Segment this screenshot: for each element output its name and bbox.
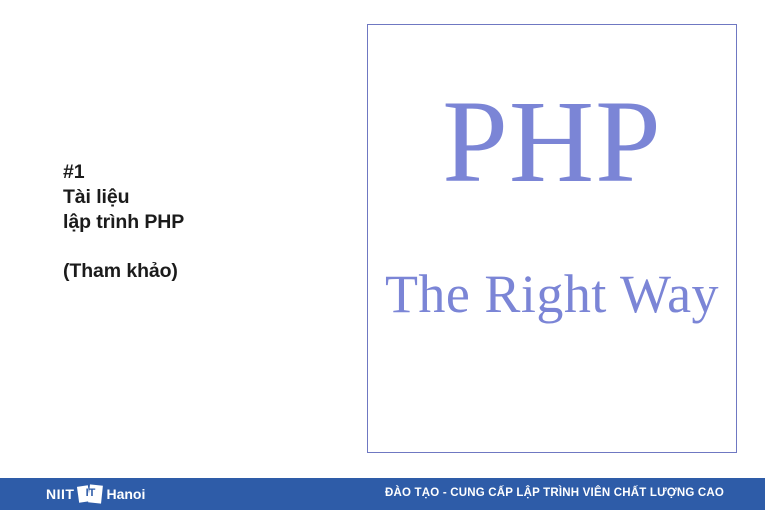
book-cover-subtitle: The Right Way	[368, 265, 736, 324]
text-spacer	[63, 235, 343, 259]
slide-note: (Tham khảo)	[63, 259, 343, 284]
logo-brand-text: NIIT	[46, 487, 74, 501]
logo-location-text: Hanoi	[106, 487, 145, 501]
slide-item-number: #1	[63, 160, 343, 185]
niit-logo: NIIT IT Hanoi	[46, 484, 145, 504]
slide-canvas: #1 Tài liệu lập trình PHP (Tham khảo) PH…	[0, 0, 765, 510]
slide-footer-bar: NIIT IT Hanoi ĐÀO TẠO - CUNG CẤP LẬP TRÌ…	[0, 478, 765, 510]
slide-text-block: #1 Tài liệu lập trình PHP (Tham khảo)	[63, 160, 343, 284]
slide-title-line-2: lập trình PHP	[63, 210, 343, 235]
book-cover-title: PHP	[368, 83, 736, 201]
book-cover-image: PHP The Right Way	[367, 24, 737, 453]
book-pages-icon: IT	[77, 484, 103, 504]
logo-mark-text: IT	[77, 488, 103, 499]
slide-title-line-1: Tài liệu	[63, 185, 343, 210]
footer-tagline: ĐÀO TẠO - CUNG CẤP LẬP TRÌNH VIÊN CHẤT L…	[385, 487, 724, 499]
